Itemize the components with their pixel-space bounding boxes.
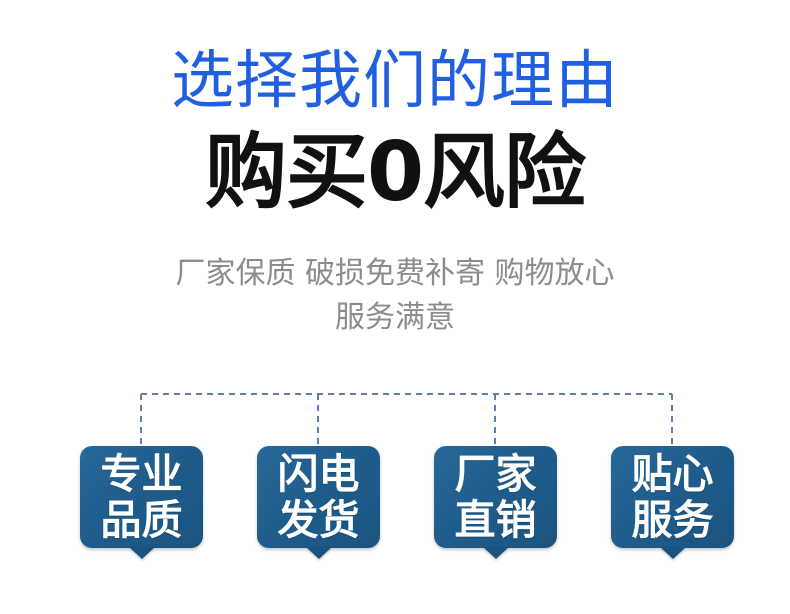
badge-label-3-line-1: 厂家 xyxy=(455,451,537,497)
badge-label-4-line-1: 贴心 xyxy=(632,451,714,497)
badge-label-4: 贴心 服务 xyxy=(611,446,734,548)
badge-row: 专业 品质 闪电 发货 厂家 直销 贴心 服务 xyxy=(0,446,790,564)
dashed-bracket-connector xyxy=(0,380,790,450)
badge-label-2: 闪电 发货 xyxy=(257,446,380,548)
badge-fast-shipping[interactable]: 闪电 发货 xyxy=(257,446,380,548)
page-title: 购买0风险 xyxy=(0,127,790,219)
badge-professional-quality[interactable]: 专业 品质 xyxy=(80,446,203,548)
badge-label-2-line-2: 发货 xyxy=(278,497,360,543)
badge-label-3: 厂家 直销 xyxy=(434,446,557,548)
promo-banner: 选择我们的理由 购买0风险 厂家保质 破损免费补寄 购物放心 服务满意 专业 品… xyxy=(0,0,790,614)
subtitle-block: 厂家保质 破损免费补寄 购物放心 服务满意 xyxy=(0,252,790,340)
badge-label-3-line-2: 直销 xyxy=(455,497,537,543)
badge-label-1-line-2: 品质 xyxy=(101,497,183,543)
badge-label-1-line-1: 专业 xyxy=(101,451,183,497)
badge-label-4-line-2: 服务 xyxy=(632,497,714,543)
eyebrow-title: 选择我们的理由 xyxy=(0,46,790,116)
badge-label-2-line-1: 闪电 xyxy=(278,451,360,497)
badge-factory-direct[interactable]: 厂家 直销 xyxy=(434,446,557,548)
badge-label-1: 专业 品质 xyxy=(80,446,203,548)
subtitle-line-1: 厂家保质 破损免费补寄 购物放心 xyxy=(0,252,790,296)
subtitle-line-2: 服务满意 xyxy=(0,296,790,340)
badge-caring-service[interactable]: 贴心 服务 xyxy=(611,446,734,548)
